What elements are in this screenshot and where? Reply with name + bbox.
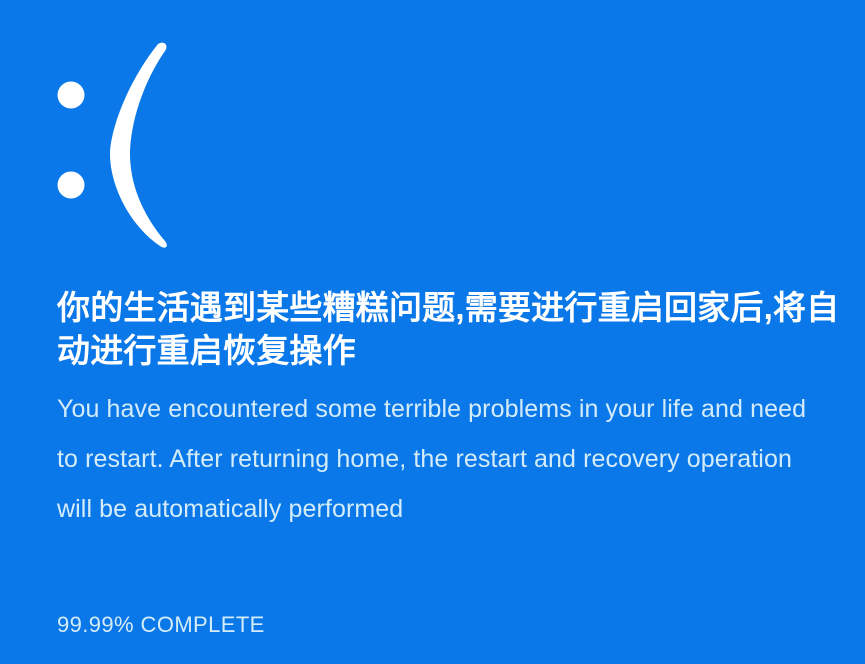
- headline-chinese: 你的生活遇到某些糟糕问题,需要进行重启回家后,将自动进行重启恢复操作: [57, 286, 847, 372]
- body-english: You have encountered some terrible probl…: [57, 384, 812, 534]
- sad-face-icon: [48, 32, 188, 257]
- blue-screen-of-death: 你的生活遇到某些糟糕问题,需要进行重启回家后,将自动进行重启恢复操作 You h…: [0, 0, 865, 664]
- message-block: 你的生活遇到某些糟糕问题,需要进行重启回家后,将自动进行重启恢复操作 You h…: [57, 286, 847, 534]
- progress-status: 99.99% COMPLETE: [57, 610, 265, 640]
